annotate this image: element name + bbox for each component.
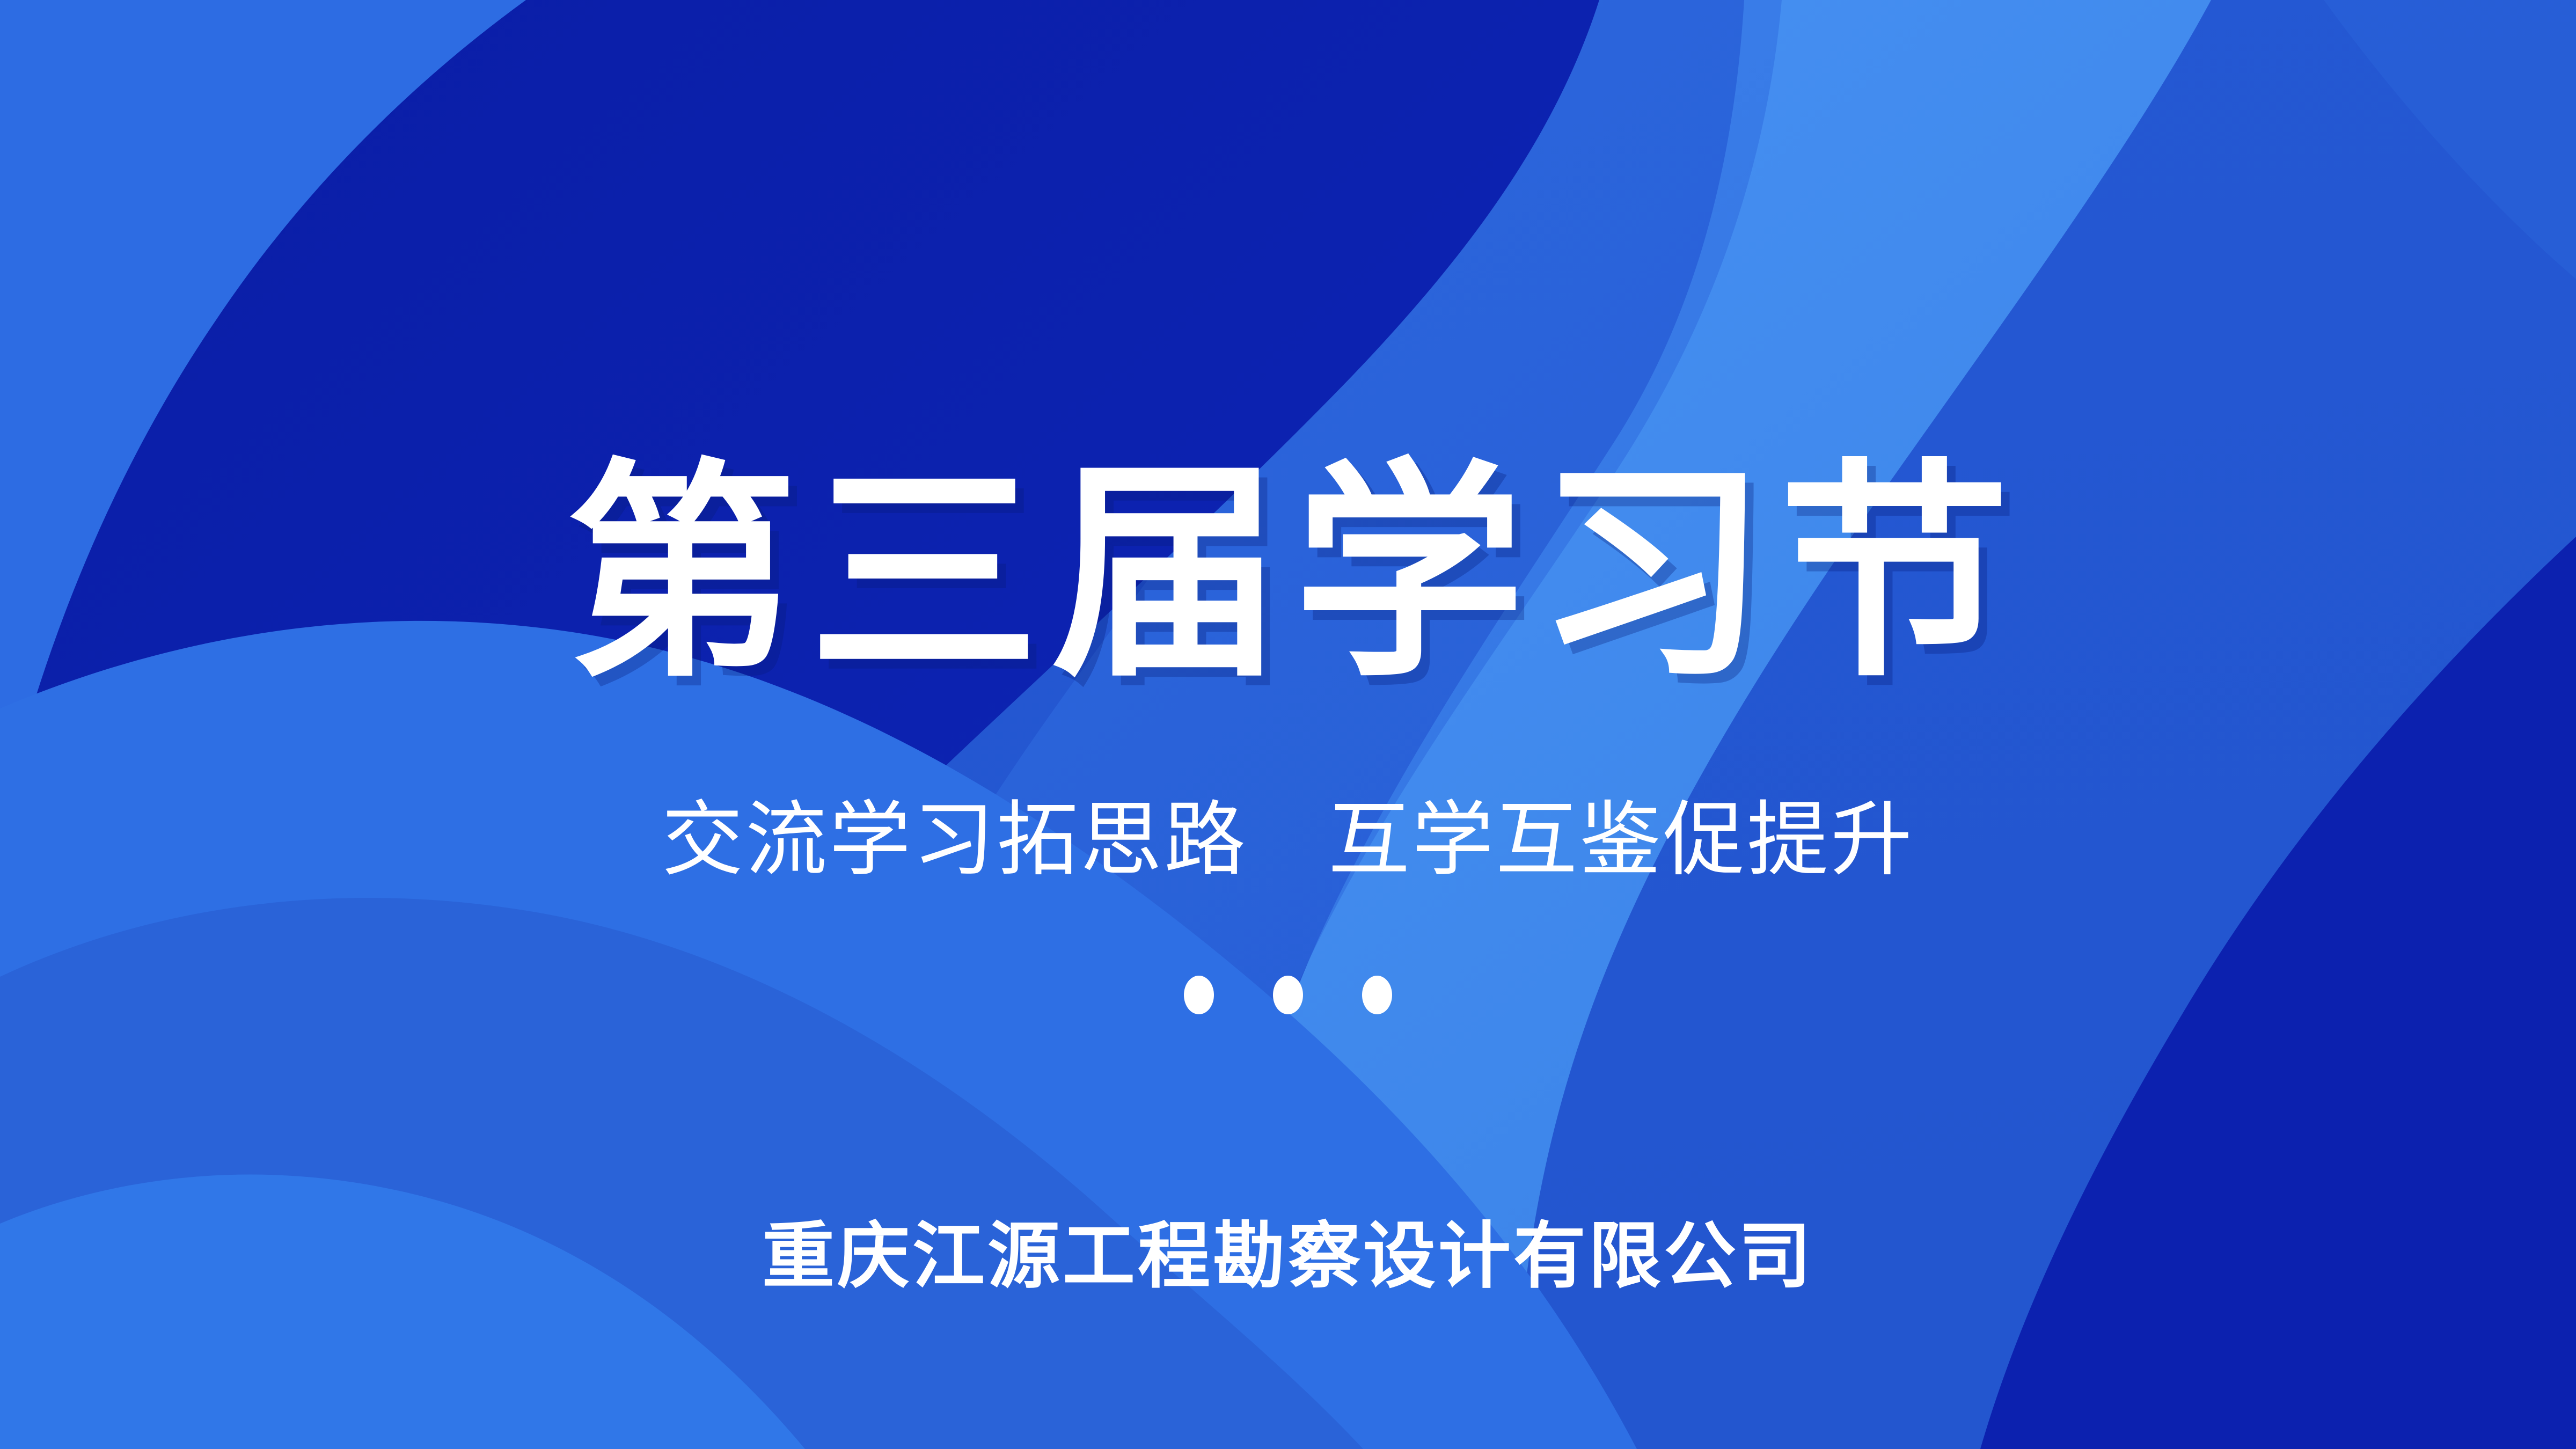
dot-icon bbox=[1184, 976, 1214, 1014]
poster-canvas: 第三届学习节 交流学习拓思路互学互鉴促提升 重庆江源工程勘察设计有限公司 bbox=[0, 0, 2576, 1449]
subtitle-phrase-right: 互学互鉴促提升 bbox=[1328, 794, 1914, 885]
organization-name: 重庆江源工程勘察设计有限公司 bbox=[0, 1207, 2576, 1305]
page-title: 第三届学习节 bbox=[0, 459, 2576, 690]
dot-icon bbox=[1362, 976, 1392, 1014]
subtitle-phrase-left: 交流学习拓思路 bbox=[662, 794, 1248, 885]
decorative-dots-group bbox=[0, 976, 2576, 1014]
subtitle-line: 交流学习拓思路互学互鉴促提升 bbox=[0, 789, 2576, 891]
dot-icon bbox=[1273, 976, 1303, 1014]
poster-content: 第三届学习节 交流学习拓思路互学互鉴促提升 重庆江源工程勘察设计有限公司 bbox=[0, 0, 2576, 1449]
